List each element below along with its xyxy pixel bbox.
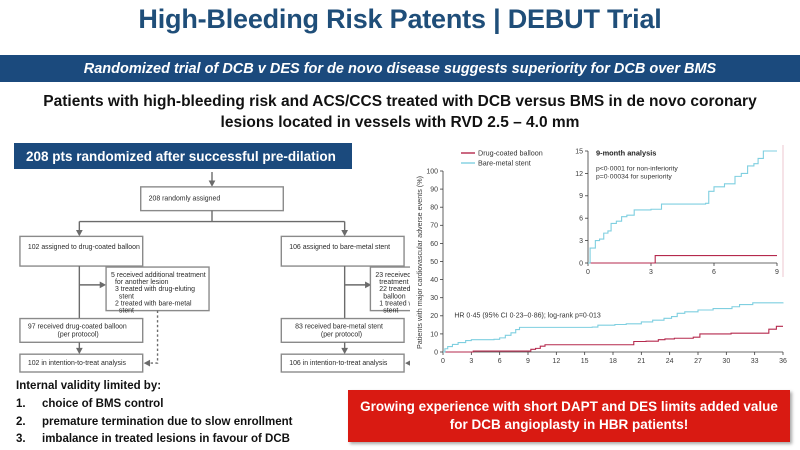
consort-left-assign: 102 assigned to drug-coated balloon bbox=[28, 244, 140, 251]
svg-text:60: 60 bbox=[430, 241, 438, 248]
list-item-label: premature termination due to slow enroll… bbox=[42, 414, 292, 431]
svg-text:15: 15 bbox=[575, 148, 583, 155]
list-item-number: 2. bbox=[16, 414, 42, 431]
limitations-list: Internal validity limited by: 1. choice … bbox=[16, 378, 356, 448]
svg-text:80: 80 bbox=[430, 205, 438, 212]
svg-text:0: 0 bbox=[579, 260, 583, 267]
svg-text:Drug-coated balloon: Drug-coated balloon bbox=[478, 149, 543, 158]
consort-right-itt: 106 in intention-to-treat analysis bbox=[289, 360, 388, 367]
subtitle-banner: Randomized trial of DCB v DES for de nov… bbox=[0, 55, 800, 82]
svg-text:100: 100 bbox=[426, 168, 438, 175]
svg-text:18: 18 bbox=[609, 358, 617, 365]
slide-root: High-Bleeding Risk Patents | DEBUT Trial… bbox=[0, 0, 800, 450]
list-item-number: 3. bbox=[16, 431, 42, 448]
conclusion-box: Growing experience with short DAPT and D… bbox=[348, 390, 790, 442]
svg-text:5 received additional treatmen: 5 received additional treatment bbox=[111, 272, 206, 279]
svg-text:3 treated with drug-eluting: 3 treated with drug-eluting bbox=[115, 286, 195, 293]
svg-text:p=0·00034 for superiority: p=0·00034 for superiority bbox=[596, 173, 672, 180]
svg-text:40: 40 bbox=[430, 277, 438, 284]
svg-text:36: 36 bbox=[779, 358, 787, 365]
svg-text:2 treated with bare-metal: 2 treated with bare-metal bbox=[115, 300, 192, 307]
svg-text:50: 50 bbox=[430, 259, 438, 266]
svg-text:9: 9 bbox=[579, 193, 583, 200]
list-item: 2. premature termination due to slow enr… bbox=[16, 414, 356, 431]
svg-text:3: 3 bbox=[469, 358, 473, 365]
svg-text:9-month analysis: 9-month analysis bbox=[596, 148, 656, 157]
svg-text:for another lesion: for another lesion bbox=[115, 279, 169, 286]
svg-text:12: 12 bbox=[552, 358, 560, 365]
svg-text:6: 6 bbox=[712, 269, 716, 276]
svg-text:27: 27 bbox=[694, 358, 702, 365]
svg-text:treatment for another lesion(s: treatment for another lesion(s) bbox=[379, 279, 410, 286]
svg-text:1 treated with drug-eluting: 1 treated with drug-eluting bbox=[379, 300, 410, 307]
randomization-callout-text: 208 pts randomized after successful pre-… bbox=[14, 149, 336, 164]
svg-text:30: 30 bbox=[722, 358, 730, 365]
svg-text:21: 21 bbox=[637, 358, 645, 365]
svg-text:6: 6 bbox=[579, 216, 583, 223]
svg-text:HR 0·45 (95% CI 0·23–0·86); lo: HR 0·45 (95% CI 0·23–0·86); log-rank p=0… bbox=[454, 313, 601, 320]
svg-text:83 received bare-metal stent: 83 received bare-metal stent bbox=[295, 323, 383, 330]
svg-text:24: 24 bbox=[666, 358, 674, 365]
svg-text:70: 70 bbox=[430, 223, 438, 230]
banner-text: Randomized trial of DCB v DES for de nov… bbox=[84, 61, 716, 77]
list-item: 3. imbalance in treated lesions in favou… bbox=[16, 431, 356, 448]
svg-text:23 received additional: 23 received additional bbox=[375, 272, 410, 279]
svg-text:0: 0 bbox=[434, 349, 438, 356]
limitations-heading: Internal validity limited by: bbox=[16, 378, 356, 395]
svg-text:Bare-metal stent: Bare-metal stent bbox=[478, 159, 531, 168]
svg-text:3: 3 bbox=[579, 238, 583, 245]
consort-flow-diagram: 208 randomly assigned 102 assigned to dr… bbox=[14, 172, 410, 372]
svg-text:9: 9 bbox=[775, 269, 779, 276]
svg-text:0: 0 bbox=[441, 358, 445, 365]
list-item: 1. choice of BMS control bbox=[16, 396, 356, 413]
svg-text:97 received drug-coated balloo: 97 received drug-coated balloon bbox=[28, 323, 127, 330]
svg-text:22 treated with drug-coated: 22 treated with drug-coated bbox=[379, 286, 410, 293]
consort-top-label: 208 randomly assigned bbox=[149, 196, 221, 203]
svg-text:10: 10 bbox=[430, 331, 438, 338]
svg-text:stent: stent bbox=[119, 308, 134, 315]
study-description: Patients with high-bleeding risk and ACS… bbox=[30, 92, 770, 134]
consort-right-assign: 106 assigned to bare-metal stent bbox=[289, 244, 390, 251]
kaplan-meier-chart: 0102030405060708090100036912151821242730… bbox=[413, 145, 791, 380]
list-item-label: choice of BMS control bbox=[42, 396, 163, 413]
svg-text:0: 0 bbox=[586, 269, 590, 276]
list-item-number: 1. bbox=[16, 396, 42, 413]
svg-text:9: 9 bbox=[526, 358, 530, 365]
svg-text:(per protocol): (per protocol) bbox=[58, 331, 99, 338]
svg-text:stent: stent bbox=[119, 293, 134, 300]
page-title: High-Bleeding Risk Patents | DEBUT Trial bbox=[0, 4, 800, 35]
svg-text:20: 20 bbox=[430, 313, 438, 320]
svg-text:Patients with major cardiovasc: Patients with major cardiovascular adver… bbox=[415, 176, 424, 349]
list-item-label: imbalance in treated lesions in favour o… bbox=[42, 431, 290, 448]
svg-text:30: 30 bbox=[430, 295, 438, 302]
svg-text:90: 90 bbox=[430, 187, 438, 194]
randomization-callout: 208 pts randomized after successful pre-… bbox=[14, 143, 352, 169]
svg-text:6: 6 bbox=[498, 358, 502, 365]
svg-text:15: 15 bbox=[581, 358, 589, 365]
consort-left-itt: 102 in intention-to-treat analysis bbox=[28, 360, 127, 367]
svg-text:12: 12 bbox=[575, 171, 583, 178]
svg-text:33: 33 bbox=[751, 358, 759, 365]
svg-text:(per protocol): (per protocol) bbox=[321, 331, 362, 338]
svg-text:3: 3 bbox=[649, 269, 653, 276]
svg-text:stent: stent bbox=[383, 308, 398, 315]
svg-text:p<0·0001 for non-inferiority: p<0·0001 for non-inferiority bbox=[596, 165, 678, 172]
svg-text:balloon: balloon bbox=[383, 293, 405, 300]
conclusion-text: Growing experience with short DAPT and D… bbox=[348, 398, 790, 433]
